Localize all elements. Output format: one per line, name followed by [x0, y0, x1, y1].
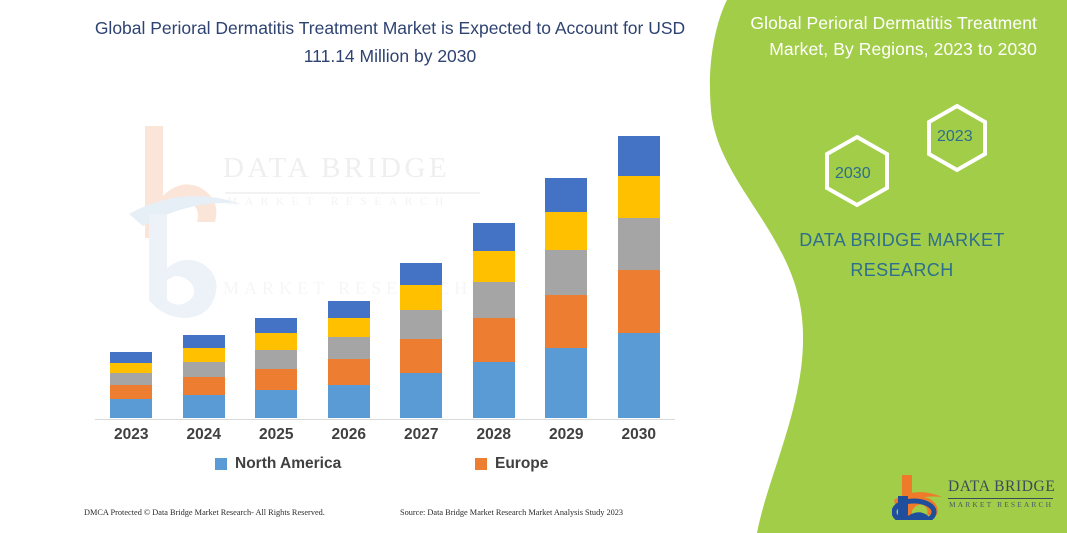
bar-segment: [110, 363, 152, 374]
legend-label: North America: [235, 455, 341, 473]
bar-segment: [328, 385, 370, 418]
panel-brand-text: DATA BRIDGE MARKET RESEARCH: [757, 225, 1047, 285]
hex-label-2023: 2023: [937, 128, 973, 146]
data-bridge-mark-icon: [892, 472, 944, 520]
bar-column-2029: [545, 178, 587, 418]
bar-column-2025: [255, 318, 297, 418]
logo-primary-text: DATA BRIDGE: [948, 478, 1055, 496]
bar-segment: [183, 395, 225, 418]
bar-segment: [618, 270, 660, 333]
x-axis-line: [95, 419, 675, 420]
bar-segment: [110, 373, 152, 385]
logo-divider: [948, 498, 1053, 499]
bar-segment: [400, 263, 442, 285]
bar-segment: [110, 399, 152, 418]
bar-column-2024: [183, 335, 225, 418]
footer: DMCA Protected © Data Bridge Market Rese…: [0, 508, 700, 528]
bar-segment: [183, 335, 225, 348]
page-title: Global Perioral Dermatitis Treatment Mar…: [80, 14, 700, 70]
bar-column-2028: [473, 223, 515, 418]
x-axis-label-2028: 2028: [458, 426, 530, 444]
bar-segment: [255, 369, 297, 390]
bar-segment: [110, 385, 152, 399]
x-axis-label-2029: 2029: [530, 426, 602, 444]
bar-segment: [618, 136, 660, 176]
x-axis-labels: 20232024202520262027202820292030: [95, 426, 675, 450]
bar-column-2026: [328, 301, 370, 419]
bar-segment: [328, 359, 370, 385]
chart-legend: North AmericaEurope: [95, 455, 675, 479]
logo-secondary-text: MARKET RESEARCH: [949, 500, 1053, 509]
bar-segment: [473, 362, 515, 418]
data-bridge-logo: DATA BRIDGE MARKET RESEARCH: [892, 470, 1057, 525]
x-axis-label-2024: 2024: [168, 426, 240, 444]
legend-label: Europe: [495, 455, 548, 473]
bar-segment: [328, 337, 370, 359]
x-axis-label-2030: 2030: [603, 426, 675, 444]
x-axis-label-2027: 2027: [385, 426, 457, 444]
x-axis-label-2026: 2026: [313, 426, 385, 444]
bar-segment: [183, 362, 225, 377]
bar-segment: [400, 310, 442, 339]
bar-segment: [400, 373, 442, 418]
bar-segment: [545, 178, 587, 212]
panel-title: Global Perioral Dermatitis Treatment Mar…: [737, 10, 1037, 62]
bar-column-2030: [618, 136, 660, 418]
bar-segment: [545, 250, 587, 295]
hex-label-2030: 2030: [835, 165, 871, 183]
chart-plot-area: DATA BRIDGE MARKET RESEARCH MARKET RESEA…: [95, 100, 675, 420]
bar-column-2023: [110, 352, 152, 418]
bar-segment: [255, 390, 297, 418]
bar-segment: [473, 223, 515, 251]
bar-segment: [328, 318, 370, 337]
bar-segment: [400, 339, 442, 373]
footer-source: Source: Data Bridge Market Research Mark…: [400, 508, 623, 517]
x-axis-label-2023: 2023: [95, 426, 167, 444]
stacked-bar-group: [95, 100, 675, 418]
bar-segment: [473, 318, 515, 361]
footer-copyright: DMCA Protected © Data Bridge Market Rese…: [84, 508, 325, 517]
bar-segment: [328, 301, 370, 319]
bar-segment: [618, 333, 660, 418]
screenshot-root: Global Perioral Dermatitis Treatment Mar…: [0, 0, 1067, 533]
bar-segment: [473, 251, 515, 282]
bar-segment: [400, 285, 442, 310]
hexagon-icon: [797, 100, 1057, 210]
legend-swatch: [215, 458, 227, 470]
bar-segment: [183, 377, 225, 395]
bar-segment: [618, 176, 660, 218]
bar-segment: [545, 212, 587, 250]
bar-segment: [255, 333, 297, 349]
bar-segment: [110, 352, 152, 363]
legend-swatch: [475, 458, 487, 470]
bar-segment: [618, 218, 660, 270]
right-green-panel: Global Perioral Dermatitis Treatment Mar…: [697, 0, 1067, 533]
bar-segment: [545, 348, 587, 418]
bar-segment: [255, 318, 297, 333]
bar-segment: [255, 350, 297, 369]
legend-item-europe[interactable]: Europe: [475, 455, 548, 473]
x-axis-label-2025: 2025: [240, 426, 312, 444]
bar-segment: [473, 282, 515, 318]
bar-column-2027: [400, 263, 442, 418]
hexagon-group: 2030 2023: [797, 100, 1057, 210]
bar-segment: [545, 295, 587, 348]
bar-segment: [183, 348, 225, 362]
legend-item-north-america[interactable]: North America: [215, 455, 341, 473]
